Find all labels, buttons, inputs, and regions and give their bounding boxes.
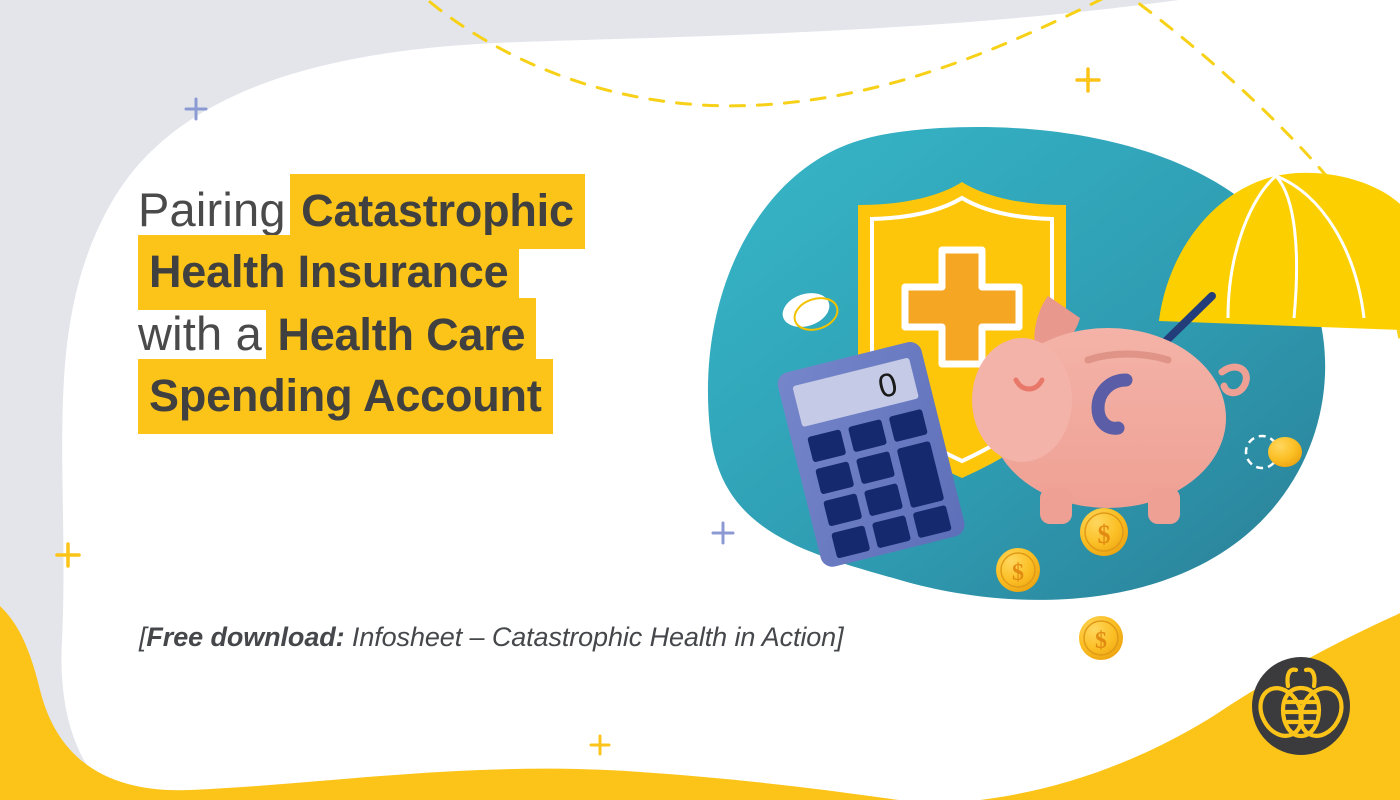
headline-highlight-4: Spending Account [138,359,553,434]
headline-line-3: with a Health Care [138,310,778,357]
poster-canvas: 0 $ [0,0,1400,800]
headline-plain-3: with a [138,307,262,360]
headline-line-1: Pairing Catastrophic [138,186,778,233]
headline-plain-1: Pairing [138,183,286,236]
headline-line-4: Spending Account [138,373,778,418]
page-title: Pairing Catastrophic Health Insurance wi… [138,186,778,428]
download-caption: [Free download: Infosheet – Catastrophic… [139,622,844,653]
caption-rest: Infosheet – Catastrophic Health in Actio… [345,622,837,652]
caption-lead: Free download: [146,622,344,652]
caption-close-bracket: ] [836,622,843,652]
headline-line-2: Health Insurance [138,249,778,294]
